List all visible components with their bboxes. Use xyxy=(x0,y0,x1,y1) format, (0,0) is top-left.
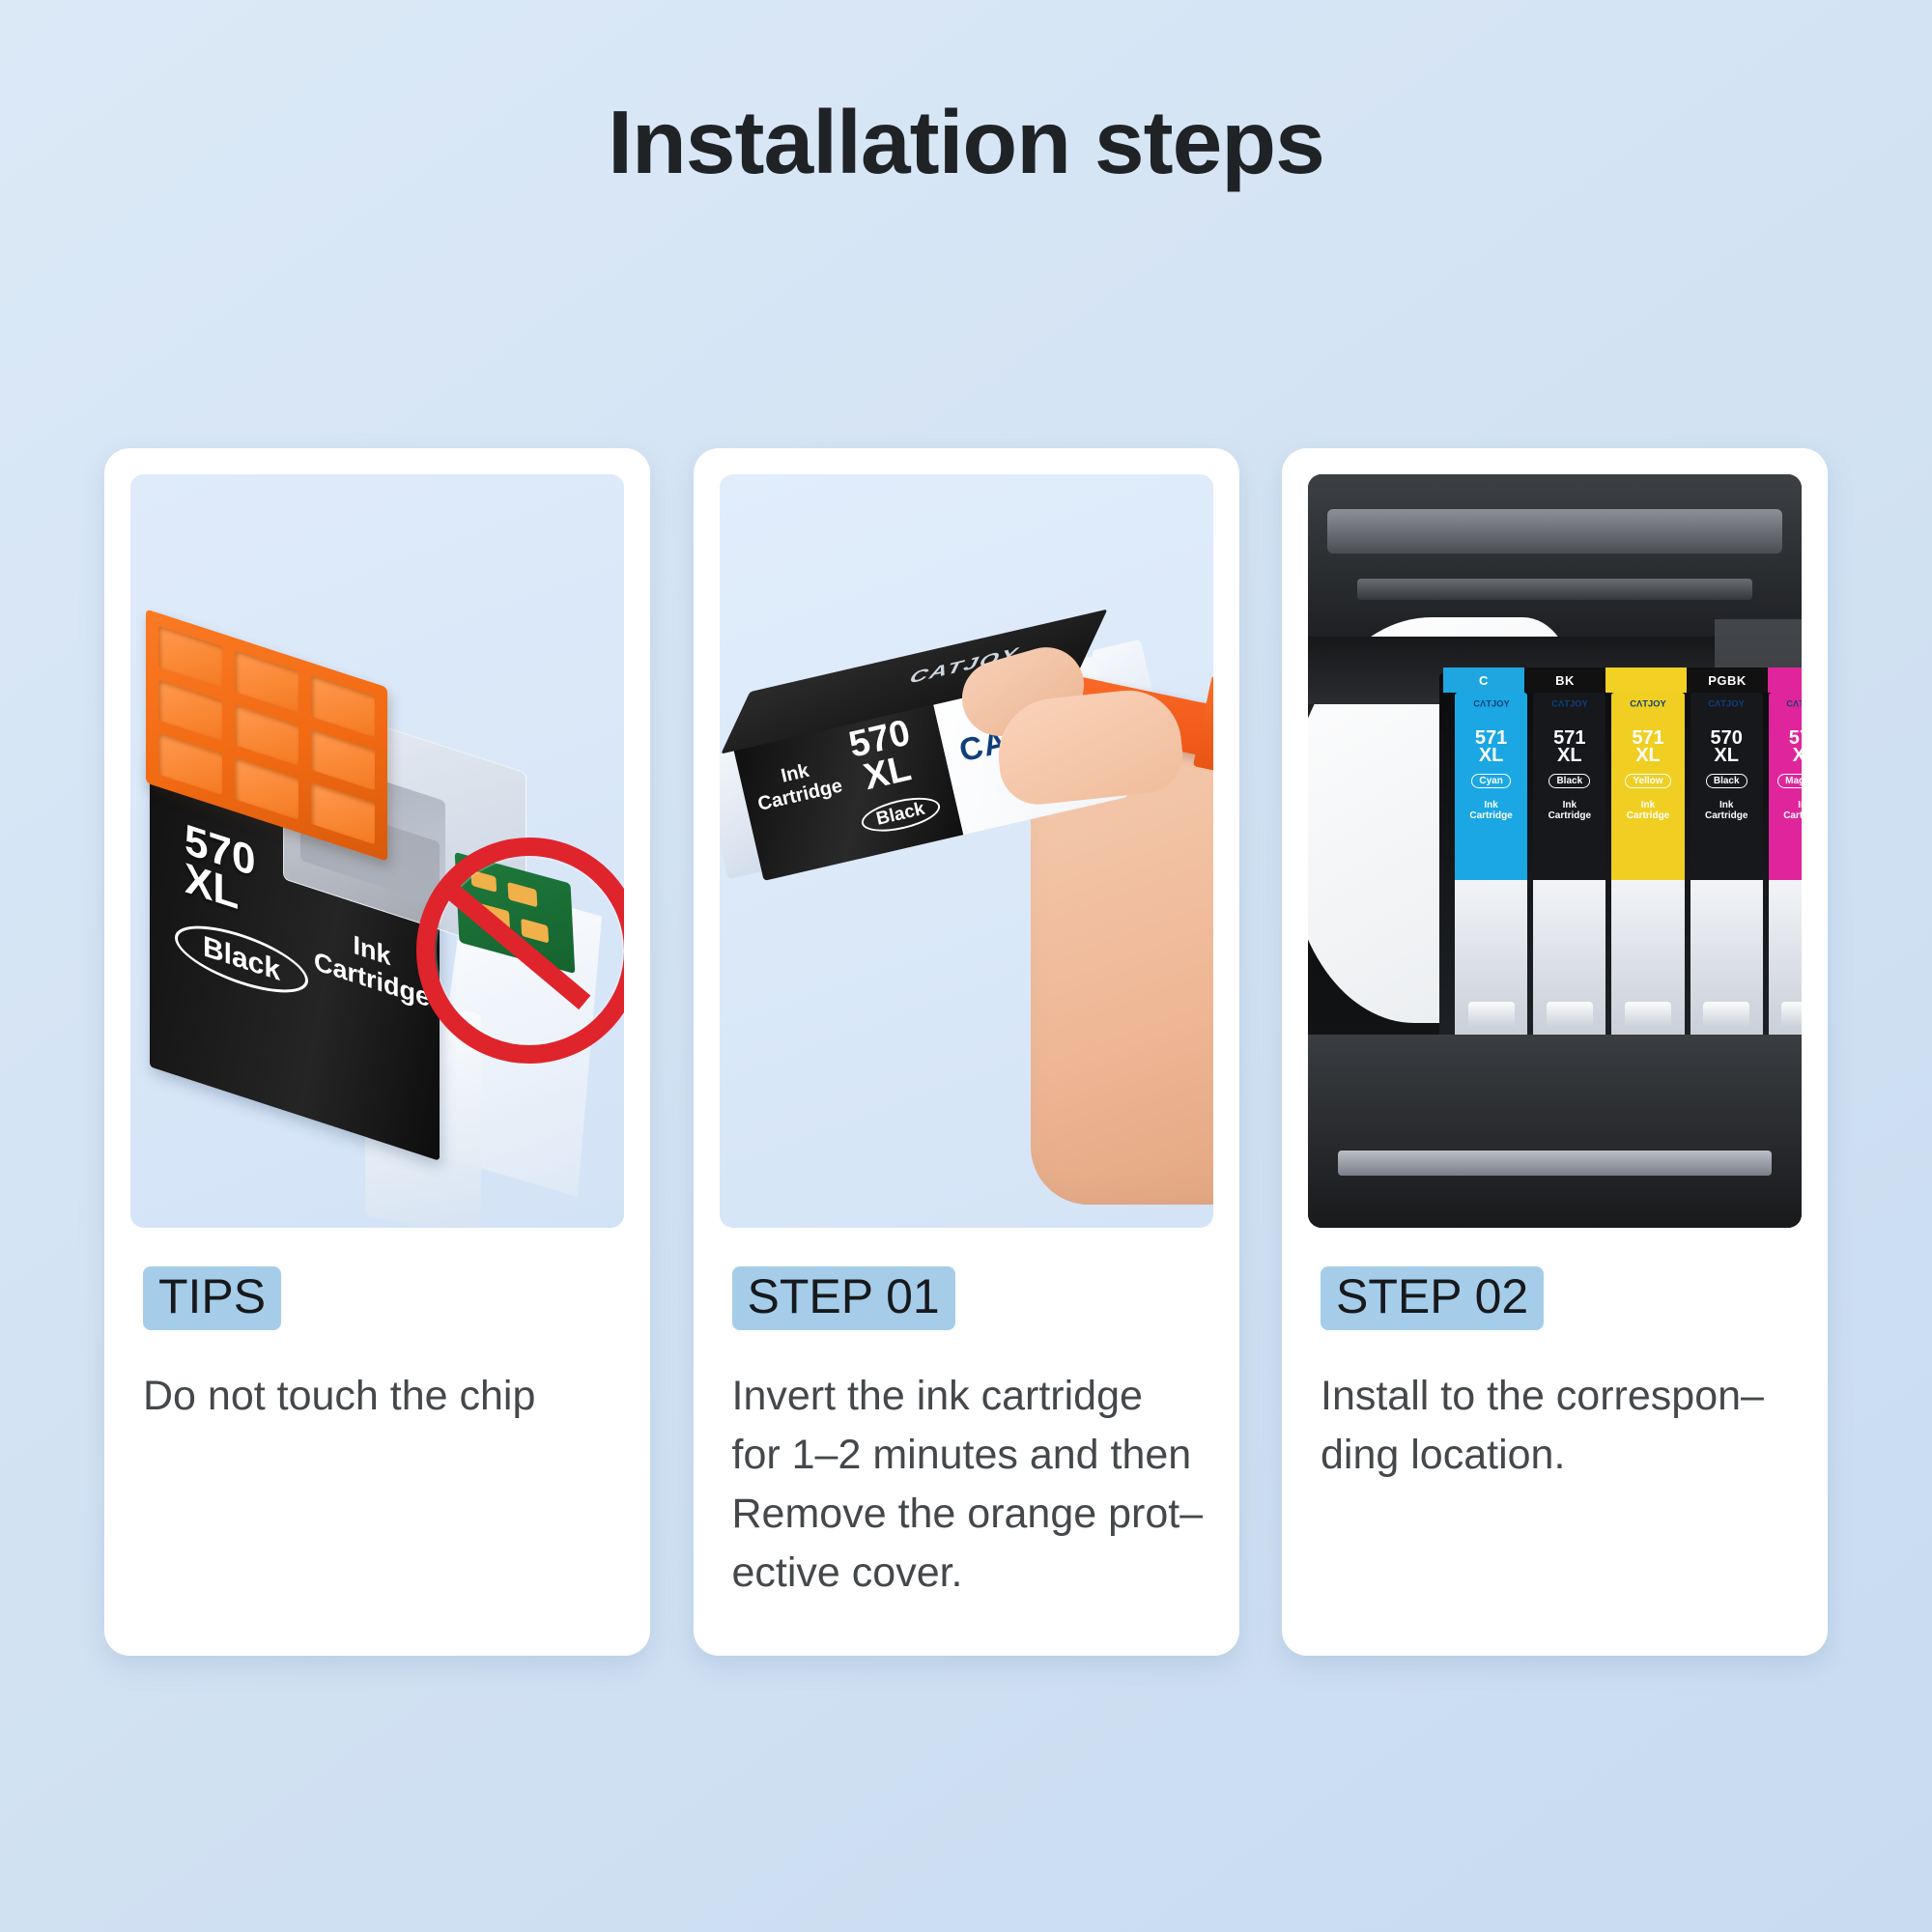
cartridge-model-text: 571 XL xyxy=(1553,729,1585,764)
step02-photo: C BK PGBK M CΛTJOY 571 XL xyxy=(1308,474,1802,1228)
slot-color-label-bar: C BK PGBK M xyxy=(1443,668,1802,693)
cartridge-type-text: Ink Cartridge xyxy=(1783,800,1802,821)
slot-label-c: C xyxy=(1443,668,1524,693)
step01-body-text: Invert the ink cartridge for 1–2 minutes… xyxy=(732,1367,1201,1603)
page-title: Installation steps xyxy=(0,93,1932,191)
cartridge-type-text: Ink Cartridge xyxy=(1469,800,1512,821)
cartridge-model-text: 570 XL xyxy=(1711,729,1743,764)
step01-photo: CATJOY 570 XL Ink Cartridge Black CATJOY xyxy=(720,474,1213,1228)
printer-lid-bar-2 xyxy=(1357,579,1752,600)
cartridge-slot: CΛTJOY 571 XL Cyan Ink Cartridge xyxy=(1455,693,1527,1040)
cartridge-color-pill: Black xyxy=(1548,774,1590,788)
cartridge-type-line-1: Ink xyxy=(1548,800,1591,810)
tips-photo: 570 XL Black Ink Cartridge xyxy=(130,474,624,1228)
steps-card-row: 570 XL Black Ink Cartridge T xyxy=(104,448,1828,1656)
cartridge-label-black-571: CΛTJOY 571 XL Black Ink Cartridge xyxy=(1533,693,1605,880)
cartridge-illustration: 570 XL Black Ink Cartridge xyxy=(138,588,554,1129)
step02-card: C BK PGBK M CΛTJOY 571 XL xyxy=(1282,448,1828,1656)
cartridge-color-pill: Magenta xyxy=(1777,774,1802,788)
cartridge-color-pill: Black xyxy=(1706,774,1747,788)
step01-line-2: for 1–2 minutes and then xyxy=(732,1426,1201,1485)
cartridge-model-size: XL xyxy=(1789,747,1802,764)
printer-tray xyxy=(1338,1151,1773,1176)
cartridge-type-line-2: Cartridge xyxy=(1469,810,1512,821)
tips-badge: TIPS xyxy=(143,1266,281,1330)
step02-body-text: Install to the correspon– ding location. xyxy=(1321,1367,1789,1485)
cartridge-color-pill: Yellow xyxy=(1625,774,1670,788)
cartridge-model-text: 571 XL xyxy=(1475,729,1507,764)
cartridge-slot: CΛTJOY 571 XL Black Ink Cartridge xyxy=(1533,693,1605,1040)
tips-line-1: Do not touch the chip xyxy=(143,1367,611,1426)
cartridge-model-size: XL xyxy=(1632,747,1663,764)
cartridge-type-text: Ink Cartridge xyxy=(1705,800,1747,821)
tips-caption: TIPS Do not touch the chip xyxy=(104,1228,650,1426)
cartridge-model-text: 571 XL xyxy=(1789,729,1802,764)
cartridge-clear-body xyxy=(1769,880,1802,1040)
cartridge-type-line-1: Ink xyxy=(1469,800,1512,810)
cartridge-type-text: Ink Cartridge xyxy=(1548,800,1591,821)
cartridge-clear-body xyxy=(1690,880,1763,1040)
cartridge-model-text: 571 XL xyxy=(1632,729,1663,764)
slot-label-y xyxy=(1605,668,1687,693)
cartridge-clear-body xyxy=(1533,880,1605,1040)
slot-label-pgbk: PGBK xyxy=(1687,668,1768,693)
step01-line-1: Invert the ink cartridge xyxy=(732,1367,1201,1426)
printer-lid-bar xyxy=(1327,509,1781,554)
cartridge-slots: CΛTJOY 571 XL Cyan Ink Cartridge xyxy=(1455,693,1802,1040)
cartridge-slot: CΛTJOY 571 XL Magenta Ink Cartridge xyxy=(1769,693,1802,1040)
step01-card: CATJOY 570 XL Ink Cartridge Black CATJOY xyxy=(694,448,1239,1656)
cartridge-model-size: XL xyxy=(1475,747,1507,764)
cartridge-type-line-2: Cartridge xyxy=(1548,810,1591,821)
cartridge-label-pgbk: CΛTJOY 570 XL Black Ink Cartridge xyxy=(1690,693,1763,880)
printer-base xyxy=(1308,1035,1802,1228)
cartridge-type-line-1: Ink xyxy=(1705,800,1747,810)
catjoy-logo: CΛTJOY xyxy=(1630,699,1665,709)
cartridge-type-text: Ink Cartridge xyxy=(1627,800,1669,821)
cartridge-type-line-2: Cartridge xyxy=(1705,810,1747,821)
cartridge-type-line-1: Ink xyxy=(1783,800,1802,810)
cartridge-slot: CΛTJOY 570 XL Black Ink Cartridge xyxy=(1690,693,1763,1040)
cartridge-model-size: XL xyxy=(1553,747,1585,764)
catjoy-logo: CΛTJOY xyxy=(1709,699,1745,709)
cartridge-label-cyan: CΛTJOY 571 XL Cyan Ink Cartridge xyxy=(1455,693,1527,880)
slot-label-bk: BK xyxy=(1524,668,1605,693)
catjoy-logo: CΛTJOY xyxy=(1473,699,1509,709)
cartridge-label-yellow: CΛTJOY 571 XL Yellow Ink Cartridge xyxy=(1611,693,1684,880)
step01-badge: STEP 01 xyxy=(732,1266,955,1330)
infographic-page: Installation steps xyxy=(0,0,1932,1932)
cartridge-slot: CΛTJOY 571 XL Yellow Ink Cartridge xyxy=(1611,693,1684,1040)
cartridge-type-line-1: Ink xyxy=(1627,800,1669,810)
cartridge-color-pill: Cyan xyxy=(1471,774,1510,788)
tips-body-text: Do not touch the chip xyxy=(143,1367,611,1426)
step02-badge: STEP 02 xyxy=(1321,1266,1544,1330)
cartridge-type-line-2: Cartridge xyxy=(1627,810,1669,821)
step01-caption: STEP 01 Invert the ink cartridge for 1–2… xyxy=(694,1228,1239,1603)
tips-card: 570 XL Black Ink Cartridge T xyxy=(104,448,650,1656)
cartridge-type-line-2: Cartridge xyxy=(1783,810,1802,821)
step01-line-4: ective cover. xyxy=(732,1544,1201,1603)
cartridge-model-size: XL xyxy=(1711,747,1743,764)
catjoy-logo: CΛTJOY xyxy=(1787,699,1802,709)
slot-label-m: M xyxy=(1768,668,1802,693)
catjoy-logo: CΛTJOY xyxy=(1551,699,1587,709)
printer-interior: C BK PGBK M CΛTJOY 571 XL xyxy=(1308,474,1802,1228)
step02-caption: STEP 02 Install to the correspon– ding l… xyxy=(1282,1228,1828,1485)
cartridge-label-magenta: CΛTJOY 571 XL Magenta Ink Cartridge xyxy=(1769,693,1802,880)
cartridge-clear-body xyxy=(1455,880,1527,1040)
step01-line-3: Remove the orange prot– xyxy=(732,1485,1201,1544)
step02-line-2: ding location. xyxy=(1321,1426,1789,1485)
step02-line-1: Install to the correspon– xyxy=(1321,1367,1789,1426)
cartridge-clear-body xyxy=(1611,880,1684,1040)
